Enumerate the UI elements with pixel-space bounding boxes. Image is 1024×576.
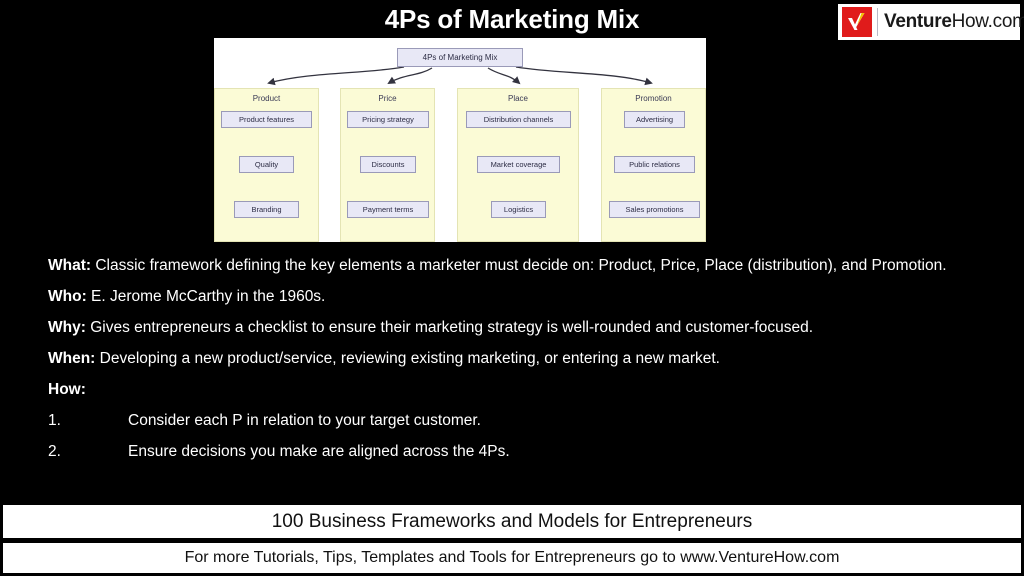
leaf-node: Distribution channels	[466, 111, 571, 128]
logo-divider	[877, 8, 878, 36]
why-paragraph: Why: Gives entrepreneurs a checklist to …	[48, 318, 988, 338]
list-item-number: 2.	[48, 442, 128, 462]
list-item: 2. Ensure decisions you make are aligned…	[48, 442, 988, 462]
column-title-price: Price	[341, 94, 434, 103]
footer-subtitle-bar: For more Tutorials, Tips, Templates and …	[3, 543, 1021, 573]
what-paragraph: What: Classic framework defining the key…	[48, 256, 988, 276]
framework-diagram: 4Ps of Marketing Mix Product Product fea…	[214, 38, 706, 242]
leaf-node: Payment terms	[347, 201, 429, 218]
diagram-column-place: Place Distribution channels Market cover…	[457, 88, 579, 242]
brand-wordmark: VentureHow.com	[884, 11, 1024, 33]
what-text: Classic framework defining the key eleme…	[91, 257, 946, 274]
diagram-column-product: Product Product features Quality Brandin…	[214, 88, 319, 242]
why-text: Gives entrepreneurs a checklist to ensur…	[86, 319, 813, 336]
what-label: What:	[48, 257, 91, 274]
body-content: What: Classic framework defining the key…	[48, 256, 988, 473]
leaf-node: Product features	[221, 111, 312, 128]
diagram-column-promotion: Promotion Advertising Public relations S…	[601, 88, 706, 242]
brand-name-bold: Venture	[884, 11, 952, 32]
when-paragraph: When: Developing a new product/service, …	[48, 349, 988, 369]
column-title-promotion: Promotion	[602, 94, 705, 103]
leaf-node: Pricing strategy	[347, 111, 429, 128]
list-item: 1. Consider each P in relation to your t…	[48, 411, 988, 431]
leaf-node: Sales promotions	[609, 201, 700, 218]
who-paragraph: Who: E. Jerome McCarthy in the 1960s.	[48, 287, 988, 307]
column-title-place: Place	[458, 94, 578, 103]
venturehow-checkmark-icon	[842, 7, 872, 37]
who-text: E. Jerome McCarthy in the 1960s.	[87, 288, 326, 305]
leaf-node: Quality	[239, 156, 294, 173]
diagram-column-price: Price Pricing strategy Discounts Payment…	[340, 88, 435, 242]
diagram-root-node: 4Ps of Marketing Mix	[397, 48, 523, 67]
footer-title-bar: 100 Business Frameworks and Models for E…	[3, 505, 1021, 538]
how-paragraph: How:	[48, 380, 988, 400]
brand-logo[interactable]: VentureHow.com	[838, 4, 1020, 40]
leaf-node: Branding	[234, 201, 299, 218]
list-item-text: Consider each P in relation to your targ…	[128, 411, 481, 431]
why-label: Why:	[48, 319, 86, 336]
when-label: When:	[48, 350, 95, 367]
leaf-node: Advertising	[624, 111, 685, 128]
list-item-text: Ensure decisions you make are aligned ac…	[128, 442, 510, 462]
list-item-number: 1.	[48, 411, 128, 431]
column-title-product: Product	[215, 94, 318, 103]
leaf-node: Logistics	[491, 201, 546, 218]
brand-name-regular: How.com	[952, 11, 1024, 32]
who-label: Who:	[48, 288, 87, 305]
leaf-node: Market coverage	[477, 156, 560, 173]
how-label: How:	[48, 381, 86, 398]
leaf-node: Public relations	[614, 156, 695, 173]
leaf-node: Discounts	[360, 156, 416, 173]
when-text: Developing a new product/service, review…	[95, 350, 720, 367]
